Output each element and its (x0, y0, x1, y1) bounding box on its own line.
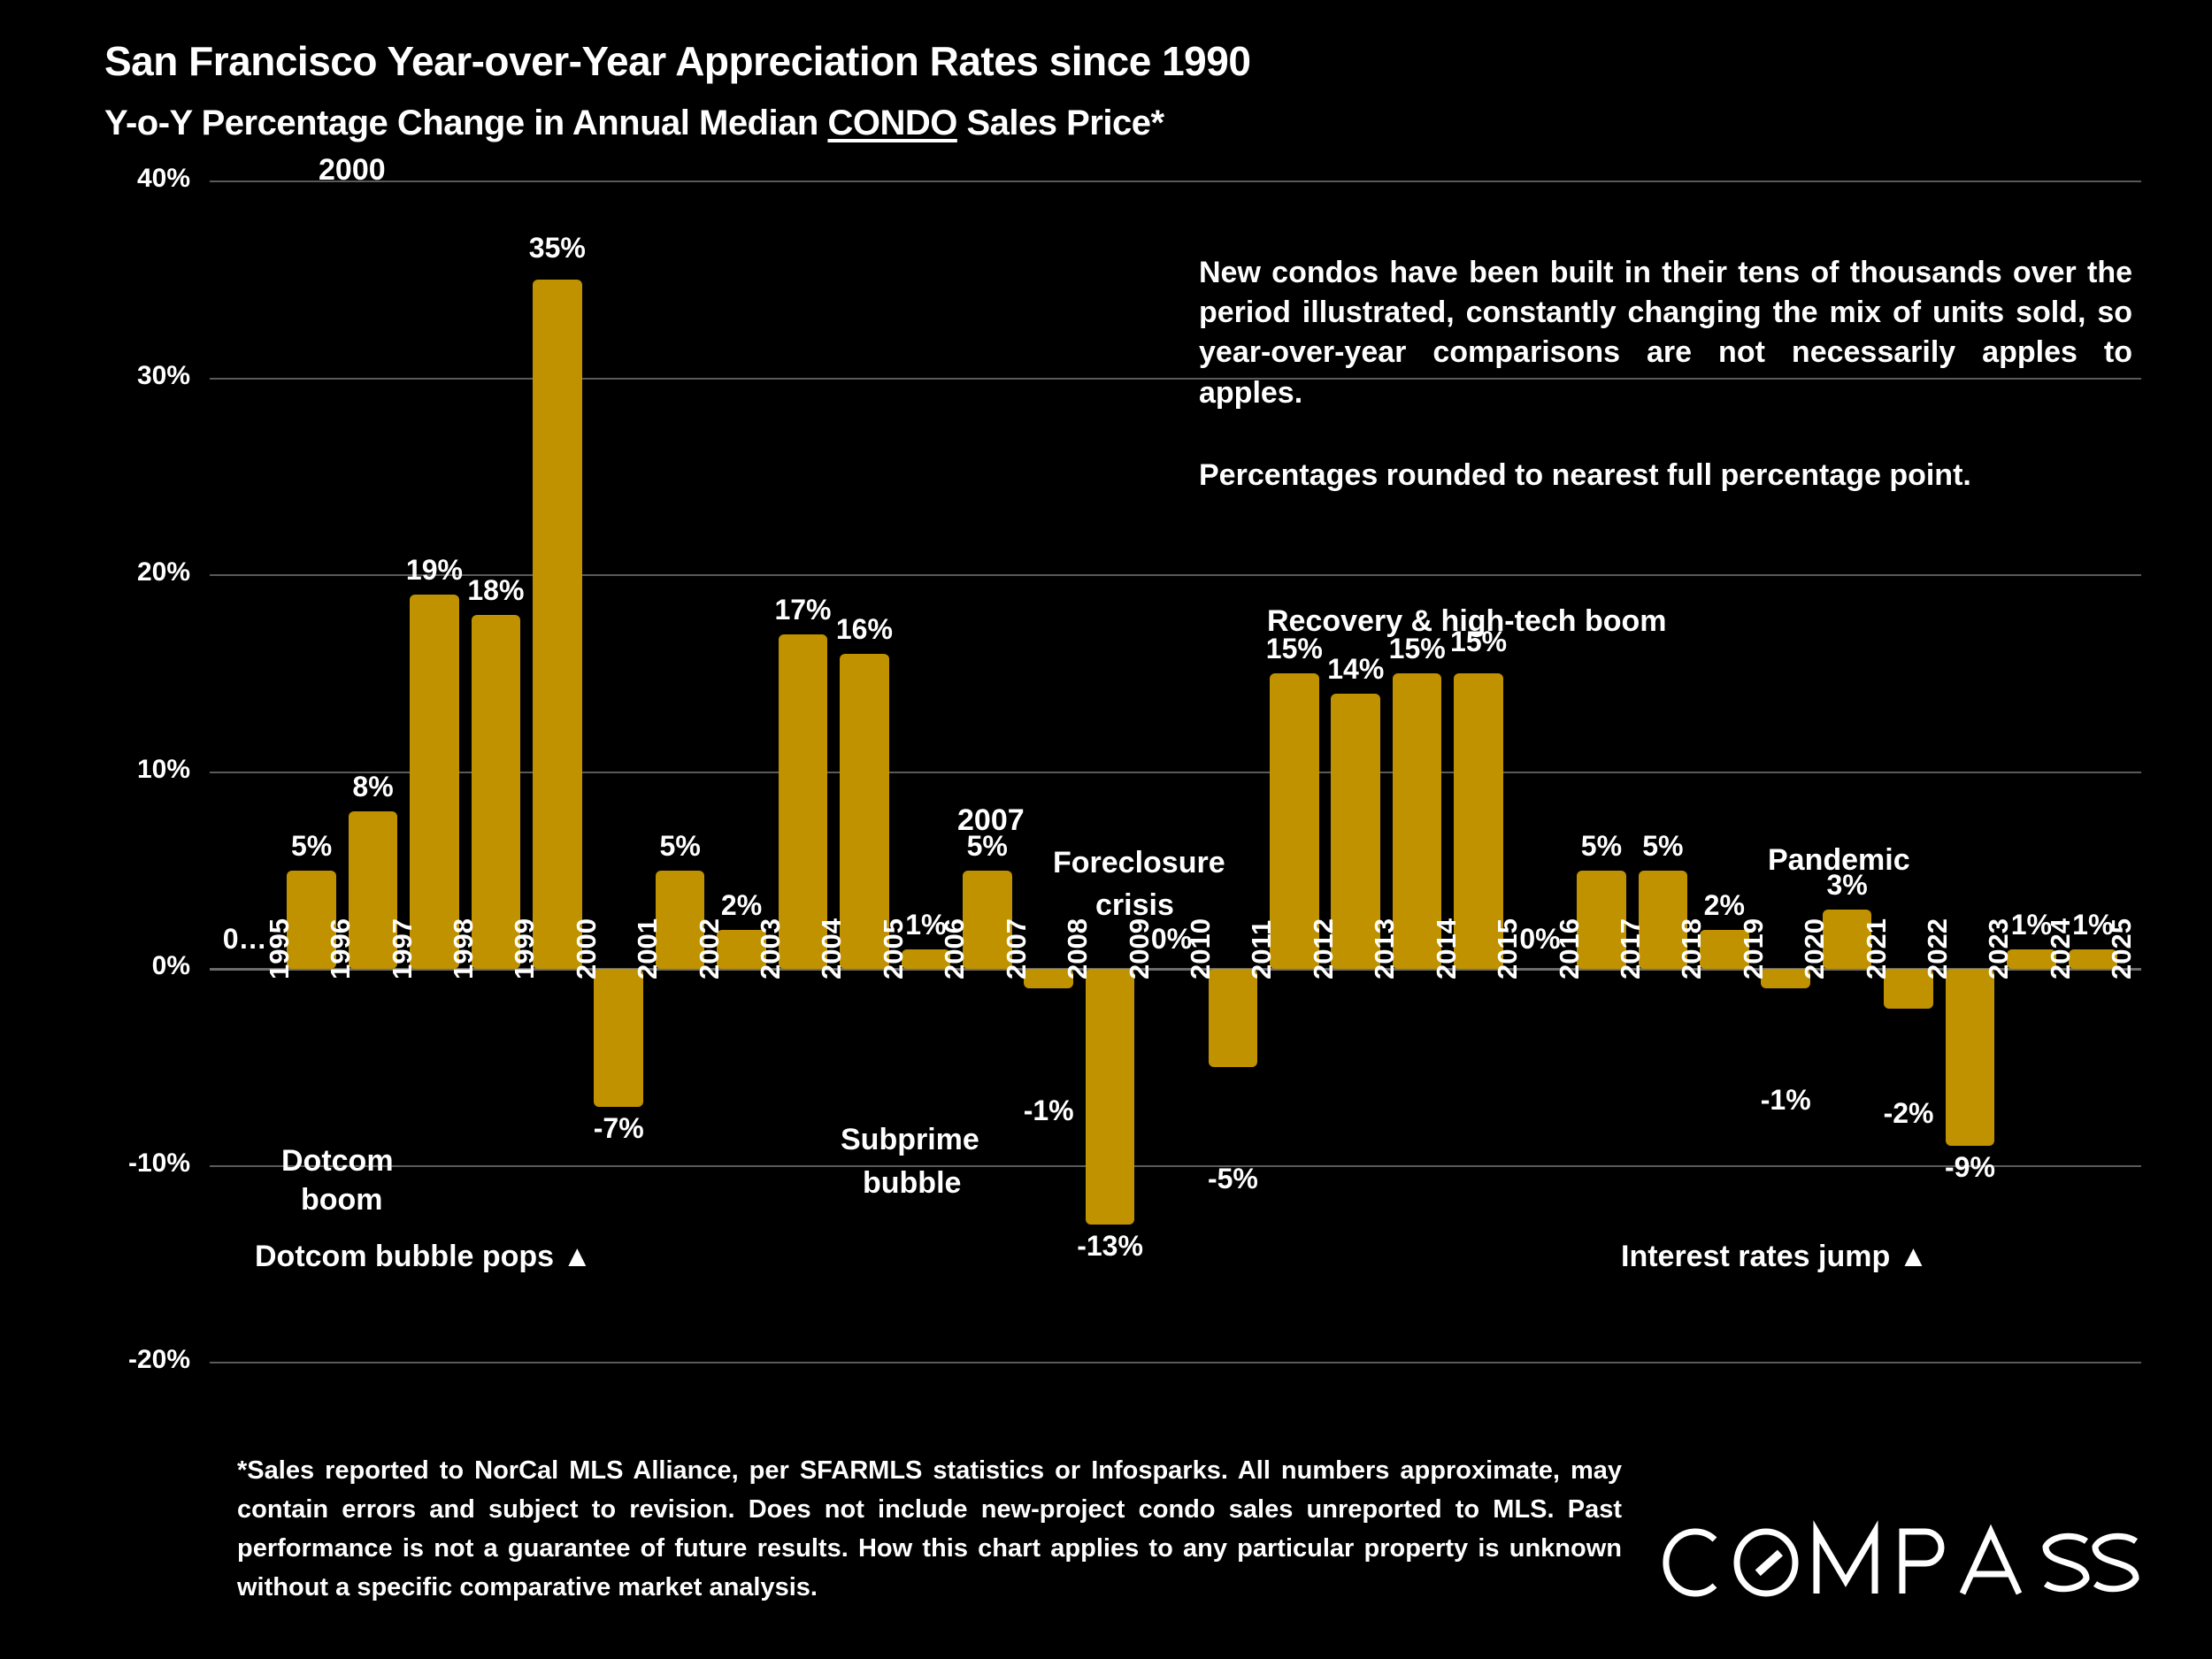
x-axis-label-1997: 1997 (387, 918, 419, 979)
annotation-subprime-l1: Subprime (841, 1122, 979, 1158)
y-axis-label-30pct: 30% (0, 361, 190, 391)
annotation-year-2000: 2000 (319, 152, 386, 188)
value-label-2002: 5% (631, 830, 729, 863)
page-title: San Francisco Year-over-Year Appreciatio… (104, 37, 1250, 85)
x-axis-label-2013: 2013 (1369, 918, 1401, 979)
gridline-neg20pct (210, 1362, 2141, 1363)
x-axis-label-1995: 1995 (264, 918, 296, 979)
x-axis-label-2010: 2010 (1185, 918, 1217, 979)
x-axis-label-2023: 2023 (1983, 918, 2015, 979)
x-axis-label-2015: 2015 (1492, 918, 1524, 979)
x-axis-label-2022: 2022 (1922, 918, 1954, 979)
subtitle-pre: Y-o-Y Percentage Change in Annual Median (104, 104, 827, 142)
annotation-pandemic: Pandemic (1768, 842, 1910, 879)
x-axis-label-2021: 2021 (1861, 918, 1893, 979)
value-label-2020: -1% (1737, 1084, 1835, 1117)
value-label-1999: 18% (447, 574, 545, 607)
x-axis-label-2018: 2018 (1676, 918, 1708, 979)
x-axis-label-1996: 1996 (325, 918, 357, 979)
value-label-2011: -5% (1184, 1163, 1282, 1195)
value-label-2003: 2% (693, 889, 791, 922)
bar-2000[interactable] (533, 280, 582, 969)
x-axis-label-2000: 2000 (571, 918, 603, 979)
value-label-2019: 2% (1675, 889, 1773, 922)
x-axis-label-2017: 2017 (1615, 918, 1647, 979)
value-label-2001: -7% (570, 1112, 668, 1145)
value-label-2009: -13% (1061, 1230, 1159, 1263)
value-label-2022: -2% (1859, 1097, 1957, 1130)
x-axis-label-2020: 2020 (1799, 918, 1831, 979)
annotation-dotcom-boom-l2: boom (301, 1182, 383, 1218)
value-label-2023: -9% (1921, 1151, 2019, 1184)
annotation-dotcom-bubble-pops: Dotcom bubble pops ▲ (255, 1239, 592, 1275)
side-note-paragraph-2: Percentages rounded to nearest full perc… (1199, 456, 2132, 495)
footnote: *Sales reported to NorCal MLS Alliance, … (237, 1451, 1622, 1607)
x-axis-label-2009: 2009 (1124, 918, 1156, 979)
x-axis-label-2025: 2025 (2106, 918, 2138, 979)
x-axis-label-1998: 1998 (448, 918, 480, 979)
value-label-1996: 5% (263, 830, 361, 863)
page-subtitle: Y-o-Y Percentage Change in Annual Median… (104, 104, 1164, 143)
bar-1999[interactable] (472, 615, 521, 970)
annotation-interest-rates-jump: Interest rates jump ▲ (1621, 1239, 1928, 1275)
side-note-paragraph-1: New condos have been built in their tens… (1199, 253, 2132, 413)
x-axis-label-2011: 2011 (1246, 920, 1278, 979)
y-axis-label-20pct: 20% (0, 557, 190, 588)
value-label-2005: 16% (815, 613, 913, 646)
x-axis-label-2002: 2002 (694, 918, 726, 979)
y-axis-label-0pct: 0% (0, 951, 190, 981)
annotation-foreclosure-l1: Foreclosure (1053, 845, 1225, 881)
value-label-2000: 35% (508, 232, 606, 265)
subtitle-emphasis: CONDO (827, 104, 956, 142)
annotation-foreclosure-l2: crisis (1095, 887, 1174, 924)
x-axis-label-2016: 2016 (1554, 918, 1586, 979)
side-note: New condos have been built in their tens… (1199, 253, 2132, 495)
y-axis-label-neg20pct: -20% (0, 1345, 190, 1375)
gridline-neg10pct (210, 1165, 2141, 1167)
x-axis-label-2007: 2007 (1001, 918, 1033, 979)
value-label-2008: -1% (1000, 1094, 1098, 1127)
gridline-40pct (210, 180, 2141, 182)
x-axis-label-2006: 2006 (939, 918, 971, 979)
compass-logo (1662, 1520, 2139, 1605)
bar-2001[interactable] (594, 969, 643, 1107)
x-axis-label-2024: 2024 (2045, 918, 2077, 979)
x-axis-label-2005: 2005 (878, 918, 910, 979)
value-label-1997: 8% (324, 771, 422, 803)
x-axis-label-1999: 1999 (509, 918, 541, 979)
x-axis-label-2012: 2012 (1308, 918, 1340, 979)
subtitle-post: Sales Price* (957, 104, 1164, 142)
annotation-recovery-boom: Recovery & high-tech boom (1267, 603, 1667, 640)
x-axis-label-2008: 2008 (1062, 918, 1094, 979)
value-label-2018: 5% (1614, 830, 1712, 863)
annotation-dotcom-boom-l1: Dotcom (281, 1143, 394, 1179)
y-axis-label-40pct: 40% (0, 164, 190, 194)
x-axis-label-2003: 2003 (755, 918, 787, 979)
y-axis-label-10pct: 10% (0, 755, 190, 785)
x-axis-label-2019: 2019 (1738, 918, 1770, 979)
x-axis-label-2014: 2014 (1431, 918, 1463, 979)
annotation-subprime-l2: bubble (863, 1165, 961, 1202)
bar-2011[interactable] (1209, 969, 1258, 1067)
y-axis-label-neg10pct: -10% (0, 1148, 190, 1179)
annotation-year-2007: 2007 (957, 803, 1025, 839)
x-axis-label-2001: 2001 (632, 918, 664, 979)
x-axis-label-2004: 2004 (816, 918, 848, 979)
